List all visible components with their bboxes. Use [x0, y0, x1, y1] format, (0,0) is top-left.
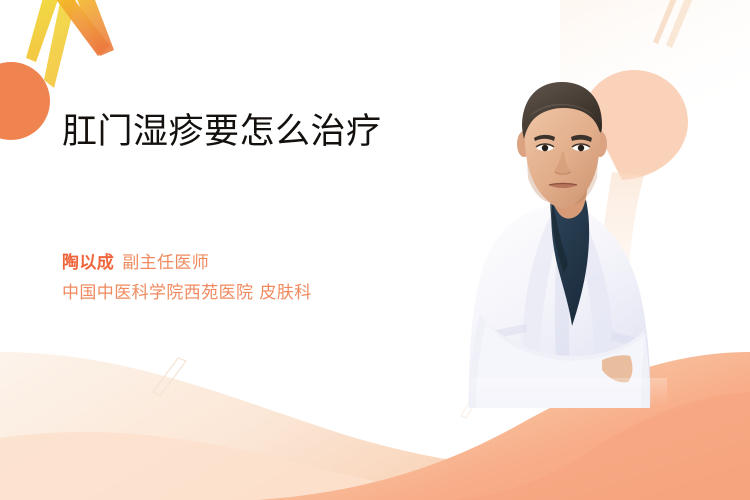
- doctor-hospital: 中国中医科学院西苑医院: [62, 283, 253, 303]
- bottom-wave-mid: [0, 432, 750, 500]
- headline-block: 肛门湿疹要怎么治疗: [62, 112, 422, 153]
- stroke-pale-2: [666, 0, 694, 48]
- stroke-pale-1: [653, 0, 678, 44]
- pupil-right: [578, 145, 584, 151]
- presenter-affiliation-row: 中国中医科学院西苑医院皮肤科: [62, 278, 312, 308]
- presenter-info: 陶以成副主任医师 中国中医科学院西苑医院皮肤科: [62, 248, 312, 308]
- doctor-professional-title: 副主任医师: [122, 253, 209, 273]
- portrait-illustration: [452, 78, 667, 408]
- doctor-department: 皮肤科: [259, 283, 311, 303]
- page-title: 肛门湿疹要怎么治疗: [62, 112, 402, 153]
- shoulder-fade: [452, 378, 667, 408]
- orange-circle: [0, 62, 50, 140]
- video-cover-slide: 肛门湿疹要怎么治疗 陶以成副主任医师 中国中医科学院西苑医院皮肤科: [0, 0, 750, 500]
- bottom-wave-accent: [455, 392, 750, 500]
- stroke-orange-2: [74, 0, 114, 56]
- stroke-orange-1: [52, 0, 110, 56]
- doctor-name: 陶以成: [62, 253, 114, 273]
- stroke-yellow-2: [44, 0, 78, 88]
- doctor-portrait: [452, 78, 667, 408]
- presenter-name-row: 陶以成副主任医师: [62, 248, 312, 278]
- pupil-left: [542, 145, 548, 151]
- stroke-outline-bottom-left: [153, 358, 186, 396]
- stroke-yellow-1: [26, 0, 60, 62]
